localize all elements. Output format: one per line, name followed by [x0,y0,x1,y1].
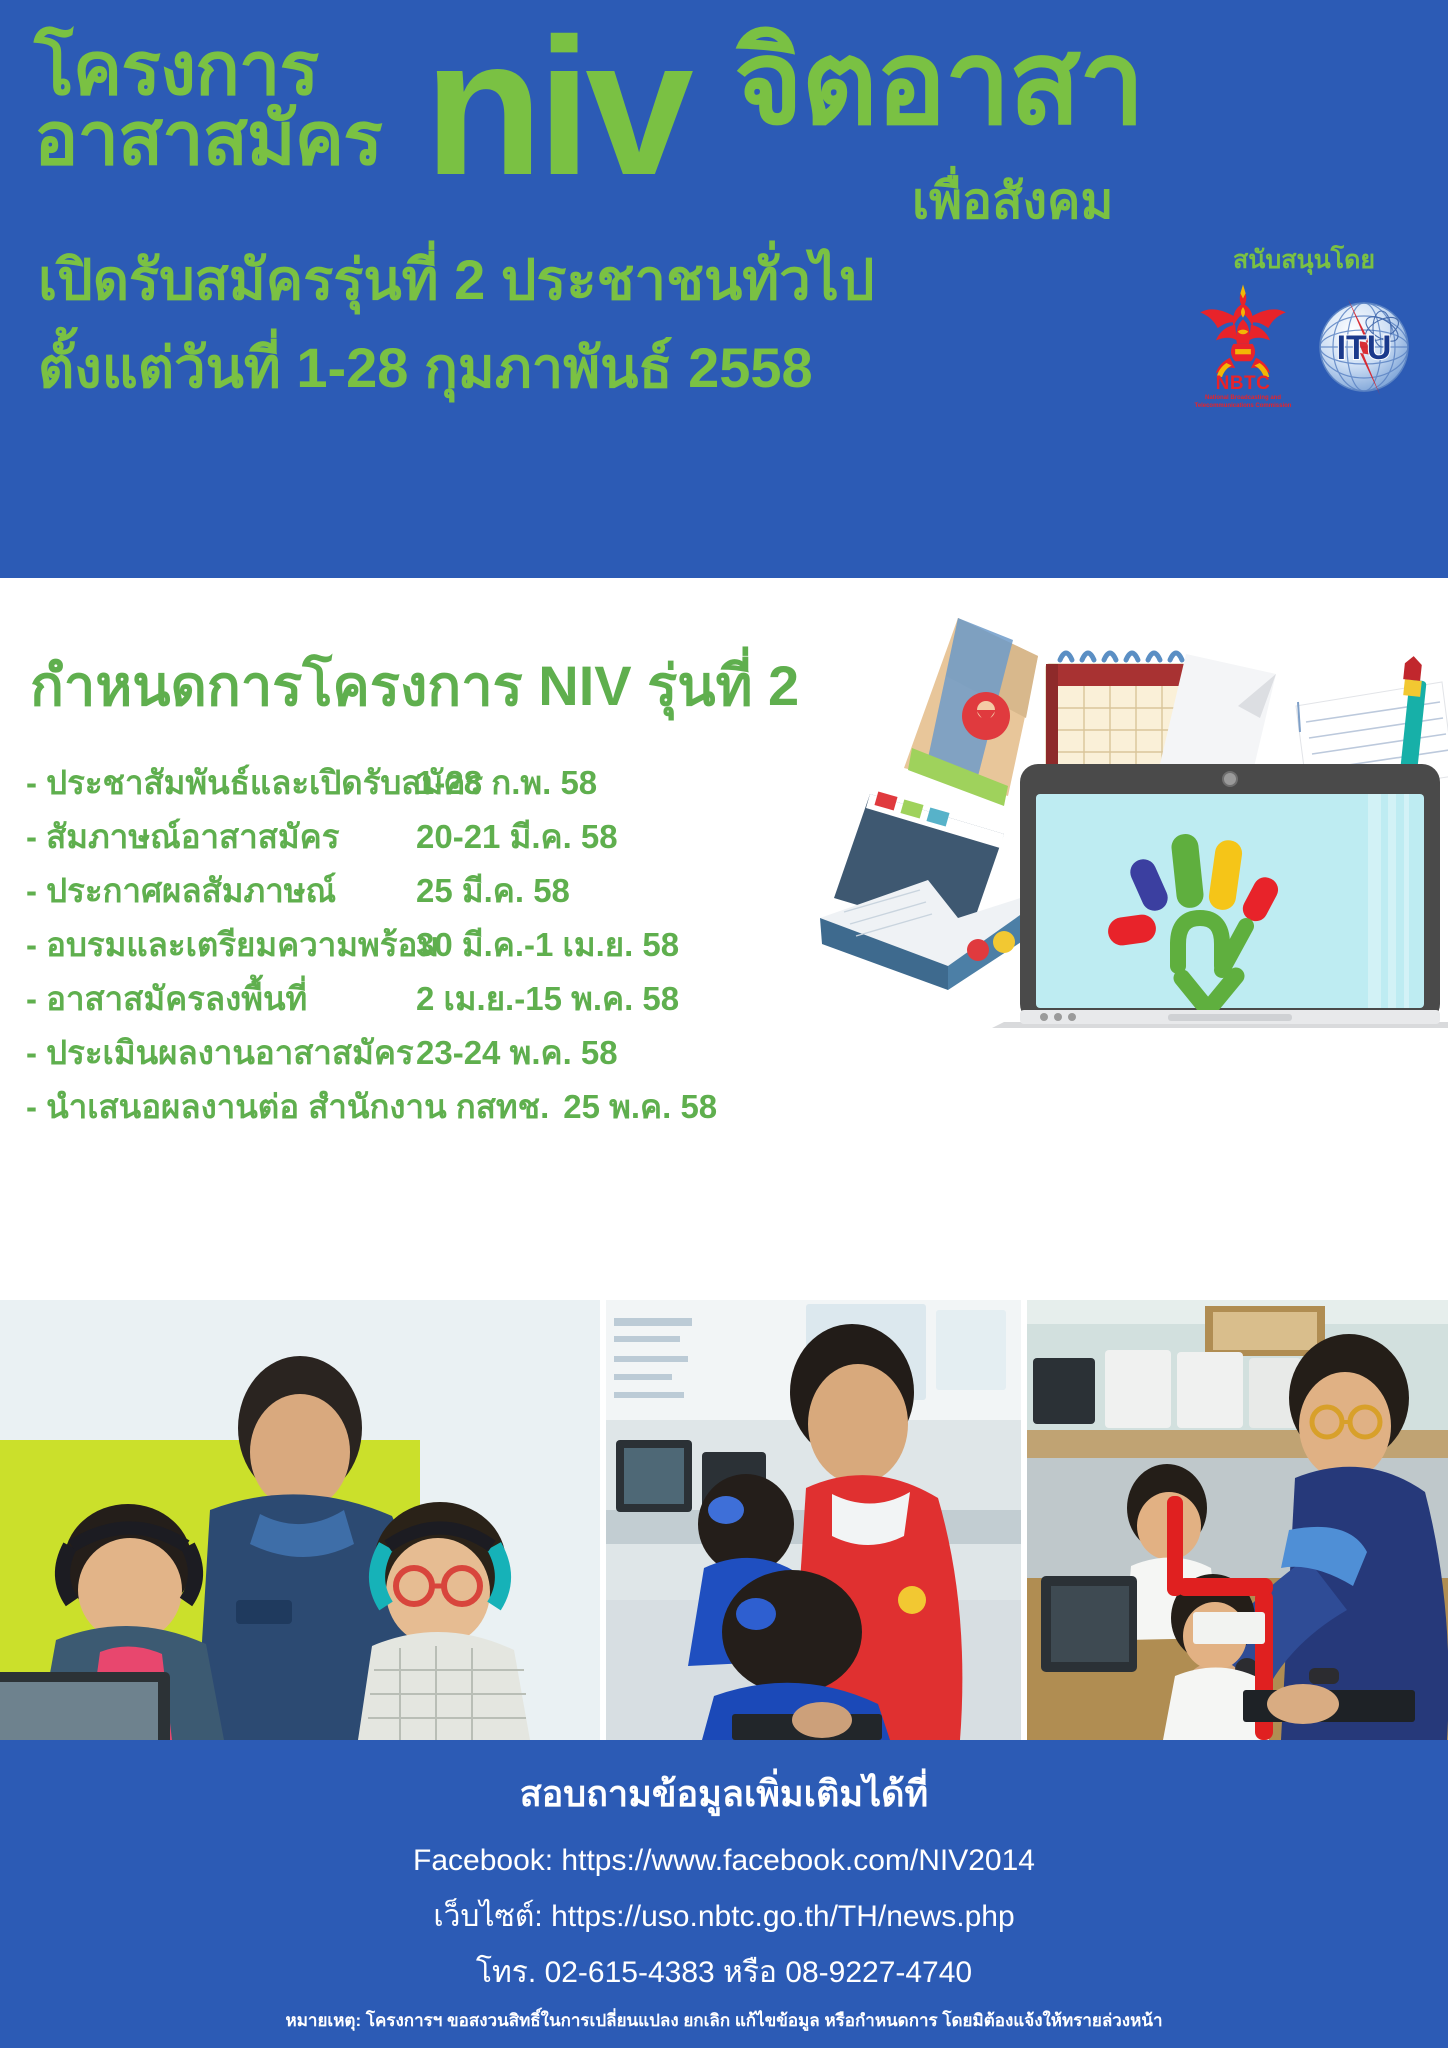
nbtc-logo-text: NBTC [1188,373,1298,395]
schedule-item-date: 1-28 ก.พ. 58 [416,766,856,799]
header-banner: โครงการ อาสาสมัคร niv จิตอาสา เพื่อสังคม… [0,0,1448,578]
nbtc-logo: NBTC National Broadcasting and Telecommu… [1188,281,1298,409]
schedule-item-label: - ประกาศผลสัมภาษณ์ [26,874,416,907]
nbtc-logo-subtext: National Broadcasting and Telecommunicat… [1188,395,1298,411]
title-niv-wordmark: niv [424,10,688,205]
garuda-icon [1188,281,1298,377]
schedule-item-label: - ประชาสัมพันธ์และเปิดรับสมัคร [26,766,416,799]
footer-facebook[interactable]: Facebook: https://www.facebook.com/NIV20… [0,1846,1448,1876]
photo-strip [0,1300,1448,1740]
map-icon [904,618,1038,806]
poster-root: โครงการ อาสาสมัคร niv จิตอาสา เพื่อสังคม… [0,0,1448,2048]
title-right-subtext: เพื่อสังคม [912,176,1113,226]
photo-item [1027,1300,1448,1740]
schedule-item-date: 2 เม.ย.-15 พ.ค. 58 [416,982,856,1015]
footer-website[interactable]: เว็บไซต์: https://uso.nbtc.go.th/TH/news… [0,1902,1448,1932]
supporters-block: สนับสนุนโดย [1184,248,1424,409]
schedule-item-label: - อบรมและเตรียมความพร้อม [26,928,416,961]
footer-disclaimer: หมายเหตุ: โครงการฯ ขอสงวนสิทธิ์ในการเปลี… [0,2012,1448,2029]
schedule-item-label: - ประเมินผลงานอาสาสมัคร [26,1036,416,1069]
title-left-thai: โครงการ อาสาสมัคร [34,34,382,175]
photo-item [606,1300,1021,1740]
footer-contact: สอบถามข้อมูลเพิ่มเติมได้ที่ Facebook: ht… [0,1740,1448,2048]
schedule-item-date: 20-21 มี.ค. 58 [416,820,856,853]
subtitle-line-1: เปิดรับสมัครรุ่นที่ 2 ประชาชนทั่วไป [38,252,874,308]
schedule-row: - นำเสนอผลงานต่อ สำนักงาน กสทช. 25 พ.ค. … [26,1090,856,1144]
schedule-item-date: 25 พ.ค. 58 [563,1090,856,1123]
footer-heading: สอบถามข้อมูลเพิ่มเติมได้ที่ [0,1776,1448,1812]
photo-volunteer-children [1027,1300,1448,1740]
schedule-row: - ประชาสัมพันธ์และเปิดรับสมัคร 1-28 ก.พ.… [26,766,856,820]
schedule-row: - อาสาสมัครลงพื้นที่ 2 เม.ย.-15 พ.ค. 58 [26,982,856,1036]
schedule-item-label: - นำเสนอผลงานต่อ สำนักงาน กสทช. [26,1090,563,1123]
supported-by-label: สนับสนุนโดย [1184,248,1424,273]
schedule-item-date: 30 มี.ค.-1 เม.ย. 58 [416,928,856,961]
photo-volunteer-adults [0,1300,600,1740]
desk-illustration: NBTC:ITU VOLUNTEERS [808,598,1448,1028]
schedule-title: กำหนดการโครงการ NIV รุ่นที่ 2 [30,658,799,714]
schedule-row: - สัมภาษณ์อาสาสมัคร 20-21 มี.ค. 58 [26,820,856,874]
title-left-line2: อาสาสมัคร [34,104,382,174]
schedule-row: - ประกาศผลสัมภาษณ์ 25 มี.ค. 58 [26,874,856,928]
itu-globe-icon: ITU [1308,291,1420,403]
photo-item [0,1300,600,1740]
schedule-row: - อบรมและเตรียมความพร้อม 30 มี.ค.-1 เม.ย… [26,928,856,982]
main-title-group: โครงการ อาสาสมัคร niv จิตอาสา เพื่อสังคม [34,28,1414,258]
footer-phone: โทร. 02-615-4383 หรือ 08-9227-4740 [0,1958,1448,1988]
schedule-item-date: 25 มี.ค. 58 [416,874,856,907]
illustration-svg: NBTC:ITU VOLUNTEERS [808,598,1448,1028]
subtitle-line-2: ตั้งแต่วันที่ 1-28 กุมภาพันธ์ 2558 [38,340,813,396]
itu-logo-text: ITU [1337,329,1392,367]
schedule-list: - ประชาสัมพันธ์และเปิดรับสมัคร 1-28 ก.พ.… [26,766,856,1144]
schedule-section: กำหนดการโครงการ NIV รุ่นที่ 2 - ประชาสัม… [0,578,1448,1300]
title-right-thai: จิตอาสา [734,24,1143,142]
itu-logo: ITU [1308,291,1420,409]
supporter-logos: NBTC National Broadcasting and Telecommu… [1184,281,1424,409]
schedule-row: - ประเมินผลงานอาสาสมัคร 23-24 พ.ค. 58 [26,1036,856,1090]
schedule-item-label: - สัมภาษณ์อาสาสมัคร [26,820,416,853]
schedule-item-label: - อาสาสมัครลงพื้นที่ [26,982,416,1015]
schedule-item-date: 23-24 พ.ค. 58 [416,1036,856,1069]
photo-volunteer-students [606,1300,1021,1740]
laptop-icon: NBTC:ITU VOLUNTEERS [992,764,1448,1028]
